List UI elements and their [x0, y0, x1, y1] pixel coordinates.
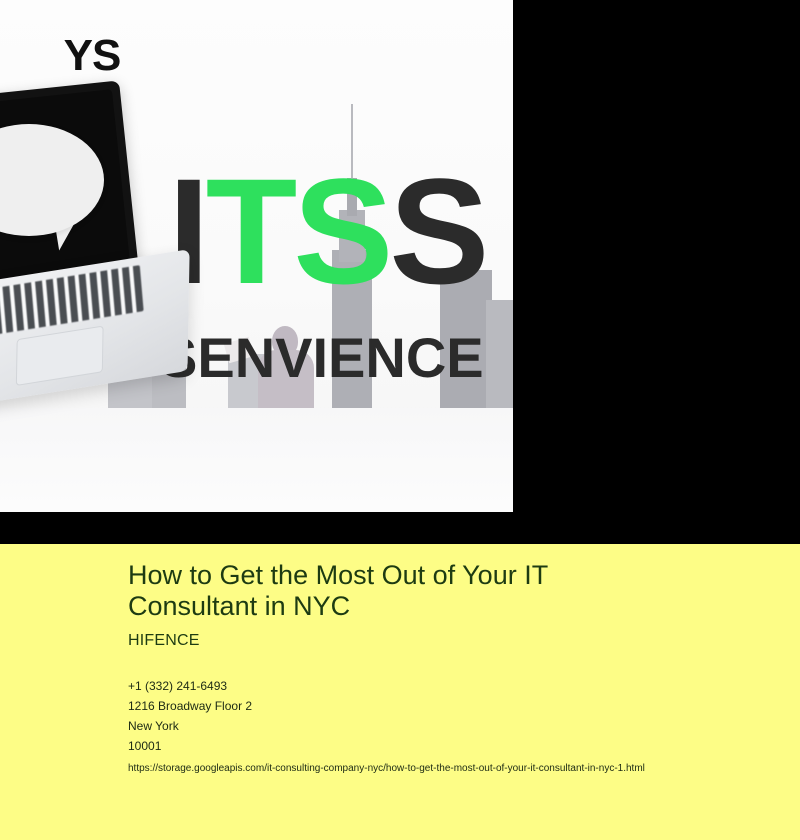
- laptop-keyboard: [0, 265, 144, 338]
- hero-headline-part-dark-2: S: [389, 147, 485, 315]
- contact-street: 1216 Broadway Floor 2: [128, 696, 736, 716]
- page-title: How to Get the Most Out of Your IT Consu…: [128, 560, 658, 622]
- brand-name: HIFENCE: [128, 632, 736, 650]
- contact-block: +1 (332) 241-6493 1216 Broadway Floor 2 …: [128, 676, 736, 756]
- page-root: ITSS SENVIENCE YS How to Get the Most Ou…: [0, 0, 800, 840]
- contact-phone: +1 (332) 241-6493: [128, 676, 736, 696]
- hero-subline: SENVIENCE: [160, 330, 484, 386]
- desk-surface: [0, 408, 513, 512]
- hero-image: ITSS SENVIENCE YS: [0, 0, 513, 512]
- skyline-building-right-outer: [486, 300, 513, 420]
- contact-postal-code: 10001: [128, 736, 736, 756]
- hero-headline: ITSS: [168, 156, 485, 306]
- laptop-trackpad: [16, 325, 104, 385]
- hero-headline-part-green: TS: [206, 147, 390, 315]
- hero-band: ITSS SENVIENCE YS: [0, 0, 800, 544]
- contact-city: New York: [128, 716, 736, 736]
- source-url[interactable]: https://storage.googleapis.com/it-consul…: [128, 762, 736, 776]
- info-card-content: How to Get the Most Out of Your IT Consu…: [128, 560, 736, 776]
- info-card: How to Get the Most Out of Your IT Consu…: [0, 544, 800, 840]
- speech-bubble-label: YS: [0, 0, 150, 112]
